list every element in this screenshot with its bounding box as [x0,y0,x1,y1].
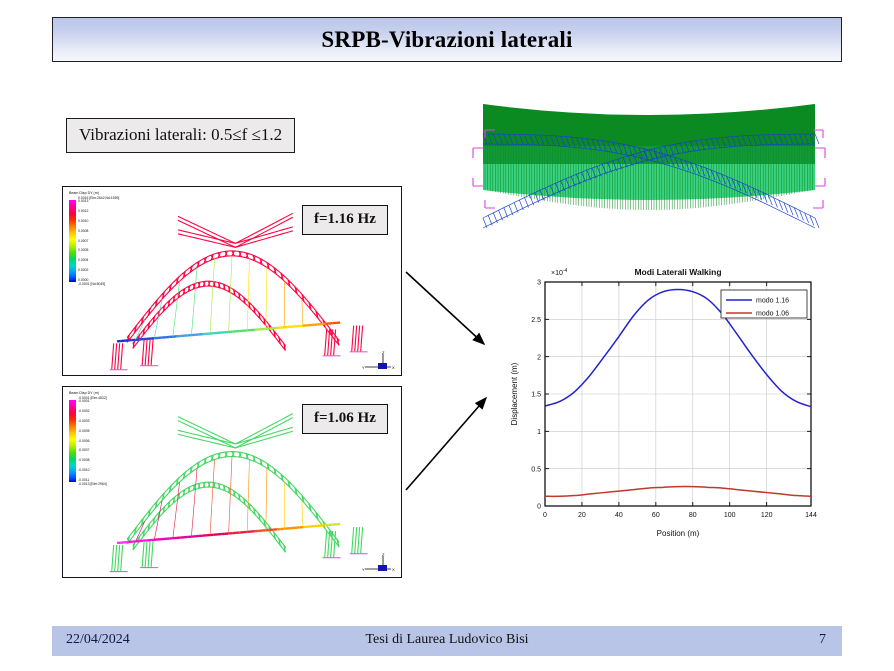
colorbar-tick: -0.0002 [78,410,90,414]
axis-triad-icon: Z Y X [361,553,395,573]
x-tick-label: 144 [805,512,817,519]
frequency-tag-106: f=1.06 Hz [302,404,388,434]
svg-text:Y: Y [362,365,365,370]
y-tick-label: 1.5 [531,392,541,399]
y-tick-label: 2 [537,354,541,361]
y-tick-label: 0.5 [531,466,541,473]
chart-x-tick-labels: 020406080100120144 [543,512,817,519]
chart-x-axis-label: Position (m) [657,529,700,538]
colorbar-tick: 0.0007 [78,240,88,244]
slide-canvas: SRPB-Vibrazioni laterali Vibrazioni late… [0,0,894,671]
colorbar-tick: 0.0002 [78,269,88,273]
colorbar-tick: -0.0005 [78,430,90,434]
caption-text: Vibrazioni laterali: 0.5≤f ≤1.2 [79,125,282,144]
frequency-tag-116-text: f=1.16 Hz [314,211,376,227]
colorbar-min-label: -0.0013 [Elm:2964] [78,483,107,487]
x-tick-label: 80 [689,512,697,519]
frequency-tag-106-text: f=1.06 Hz [314,410,376,426]
slide-footer: 22/04/2024 Tesi di Laurea Ludovico Bisi … [52,626,842,656]
y-tick-label: 0 [537,504,541,511]
chart-title: Modi Laterali Walking [634,267,721,277]
chart-y-axis-label: Displacement (m) [510,362,519,425]
x-tick-label: 40 [615,512,623,519]
chart-y-tick-labels: 00.511.522.53 [531,280,541,511]
modi-laterali-chart: 020406080100120144 00.511.522.53 Modi La… [505,258,839,544]
colorbar-tick: -0.0006 [78,440,90,444]
colorbar-gradient-strip [69,400,76,482]
colorbar-tick: 0.0005 [78,249,88,253]
arrow-top [406,272,484,344]
y-tick-label: 2.5 [531,317,541,324]
x-tick-label: 20 [578,512,586,519]
bridge-plan-view-image [443,86,855,246]
page-title: SRPB-Vibrazioni laterali [321,27,572,53]
colorbar-tick: 0.0010 [78,220,88,224]
svg-text:X: X [392,567,395,572]
svg-text:Z: Z [382,351,385,355]
footer-center-text: Tesi di Laurea Ludovico Bisi [52,632,842,648]
colorbar-tick: -0.0010 [78,469,90,473]
caption-box: Vibrazioni laterali: 0.5≤f ≤1.2 [66,118,295,153]
axis-triad-icon: Z Y X [361,351,395,371]
colorbar-legend-top: Beam Disp DY (m) 0.0015 [Elm:2642,Nd:155… [69,192,119,287]
colorbar-tick: -0.0001 [78,400,90,404]
colorbar-tick: -0.0007 [78,449,90,453]
colorbar-tick: 0.0013 [78,200,88,204]
colorbar-tick-values: 0.00130.00120.00100.00080.00070.00050.00… [78,200,88,282]
colorbar-tick: 0.0004 [78,259,88,263]
colorbar-tick: 0.0012 [78,210,88,214]
x-tick-label: 0 [543,512,547,519]
x-tick-label: 120 [761,512,773,519]
chart-legend: modo 1.16modo 1.06 [721,290,807,318]
y-tick-label: 1 [537,429,541,436]
x-tick-label: 60 [652,512,660,519]
slide-title-bar: SRPB-Vibrazioni laterali [52,17,842,62]
colorbar-tick-values: -0.0001-0.0002-0.0003-0.0005-0.0006-0.00… [78,400,90,482]
legend-label: modo 1.16 [756,298,789,305]
frequency-tag-116: f=1.16 Hz [302,205,388,235]
colorbar-tick: -0.0003 [78,420,90,424]
svg-text:Y: Y [362,567,365,572]
x-tick-label: 100 [724,512,736,519]
arrow-bottom [406,398,486,490]
chart-y-exponent: ×10-4 [551,268,568,277]
legend-label: modo 1.06 [756,311,789,318]
svg-text:X: X [392,365,395,370]
colorbar-gradient-strip [69,200,76,282]
colorbar-tick: -0.0008 [78,459,90,463]
y-tick-label: 3 [537,280,541,287]
footer-page-number: 7 [819,632,826,648]
svg-text:Z: Z [382,553,385,557]
colorbar-legend-bottom: Beam Disp DY (m) -0.0001 [Elm:4832] -0.0… [69,392,107,487]
colorbar-min-label: -0.0001 [Nd:5049] [78,283,119,287]
colorbar-tick: 0.0008 [78,230,88,234]
